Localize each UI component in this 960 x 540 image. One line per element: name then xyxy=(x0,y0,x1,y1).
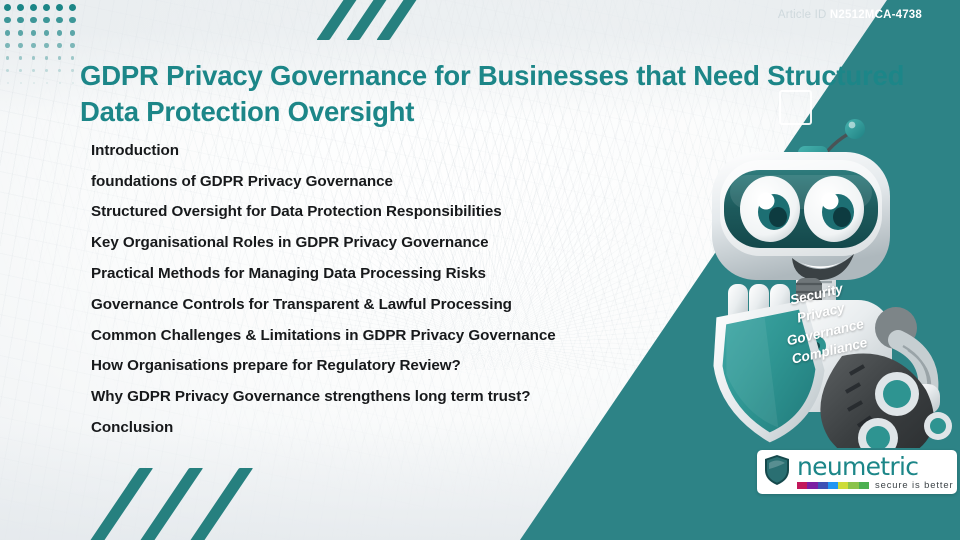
dot xyxy=(69,17,75,23)
dot xyxy=(6,69,9,72)
dot xyxy=(4,4,11,11)
toc-item-8[interactable]: How Organisations prepare for Regulatory… xyxy=(91,351,651,382)
color-bar-segment xyxy=(838,482,848,489)
toc-item-7[interactable]: Common Challenges & Limitations in GDPR … xyxy=(91,320,651,351)
toc-item-2[interactable]: foundations of GDPR Privacy Governance xyxy=(91,166,651,197)
dot xyxy=(44,30,50,36)
toc-item-3[interactable]: Structured Oversight for Data Protection… xyxy=(91,197,651,228)
dot xyxy=(72,82,74,84)
logo-tagline: secure is better xyxy=(875,480,954,489)
top-diagonal-slashes xyxy=(330,0,450,34)
dot xyxy=(33,82,35,84)
dot xyxy=(59,82,61,84)
robot-mascot xyxy=(700,108,960,448)
color-bar-segment xyxy=(828,482,838,489)
robot-head xyxy=(712,152,890,280)
dot xyxy=(71,69,74,72)
toc-item-4[interactable]: Key Organisational Roles in GDPR Privacy… xyxy=(91,227,651,258)
dot xyxy=(30,4,37,11)
logo-wordmark: neumetric xyxy=(797,454,954,479)
neumetric-logo[interactable]: neumetric secure is better xyxy=(757,450,957,494)
dot xyxy=(45,56,49,60)
dot xyxy=(57,43,62,48)
dot xyxy=(71,56,75,60)
dot xyxy=(70,30,76,36)
dot xyxy=(6,56,10,60)
presentation-slide: Article ID N2512MCA-4738 GDPR Privacy Go… xyxy=(0,0,960,540)
toc-item-10[interactable]: Conclusion xyxy=(91,412,651,443)
toc-item-1[interactable]: Introduction xyxy=(91,135,651,166)
toc-item-6[interactable]: Governance Controls for Transparent & La… xyxy=(91,289,651,320)
dot xyxy=(30,17,36,23)
table-of-contents: Introductionfoundations of GDPR Privacy … xyxy=(91,135,651,443)
shield-icon xyxy=(764,454,790,491)
dot xyxy=(57,30,63,36)
dot xyxy=(46,82,48,84)
article-id: Article ID N2512MCA-4738 xyxy=(778,9,922,21)
bottom-diagonal-slashes xyxy=(96,468,306,540)
dot xyxy=(5,43,10,48)
dot xyxy=(44,43,49,48)
logo-color-bar xyxy=(797,482,869,489)
dot xyxy=(18,43,23,48)
dot xyxy=(58,56,62,60)
dot xyxy=(58,69,61,72)
dot xyxy=(43,17,49,23)
dot xyxy=(70,43,75,48)
dot xyxy=(19,56,23,60)
color-bar-segment xyxy=(797,482,807,489)
dot xyxy=(20,82,22,84)
dot xyxy=(43,4,50,11)
dot xyxy=(17,17,23,23)
article-id-value: N2512MCA-4738 xyxy=(830,9,922,21)
color-bar-segment xyxy=(807,482,817,489)
color-bar-segment xyxy=(859,482,869,489)
article-id-label: Article ID xyxy=(778,9,827,21)
dot xyxy=(56,17,62,23)
toc-item-5[interactable]: Practical Methods for Managing Data Proc… xyxy=(91,258,651,289)
dot xyxy=(5,30,11,36)
dot xyxy=(32,69,35,72)
dot xyxy=(19,69,22,72)
dot xyxy=(56,4,63,11)
dot xyxy=(18,30,24,36)
dot xyxy=(31,43,36,48)
dot xyxy=(45,69,48,72)
color-bar-segment xyxy=(818,482,828,489)
dot xyxy=(4,17,10,23)
toc-item-9[interactable]: Why GDPR Privacy Governance strengthens … xyxy=(91,381,651,412)
color-bar-segment xyxy=(848,482,858,489)
dot xyxy=(17,4,24,11)
dot xyxy=(32,56,36,60)
dot xyxy=(7,82,9,84)
dot xyxy=(69,4,76,11)
dot-grid-decoration xyxy=(4,4,82,88)
dot xyxy=(31,30,37,36)
